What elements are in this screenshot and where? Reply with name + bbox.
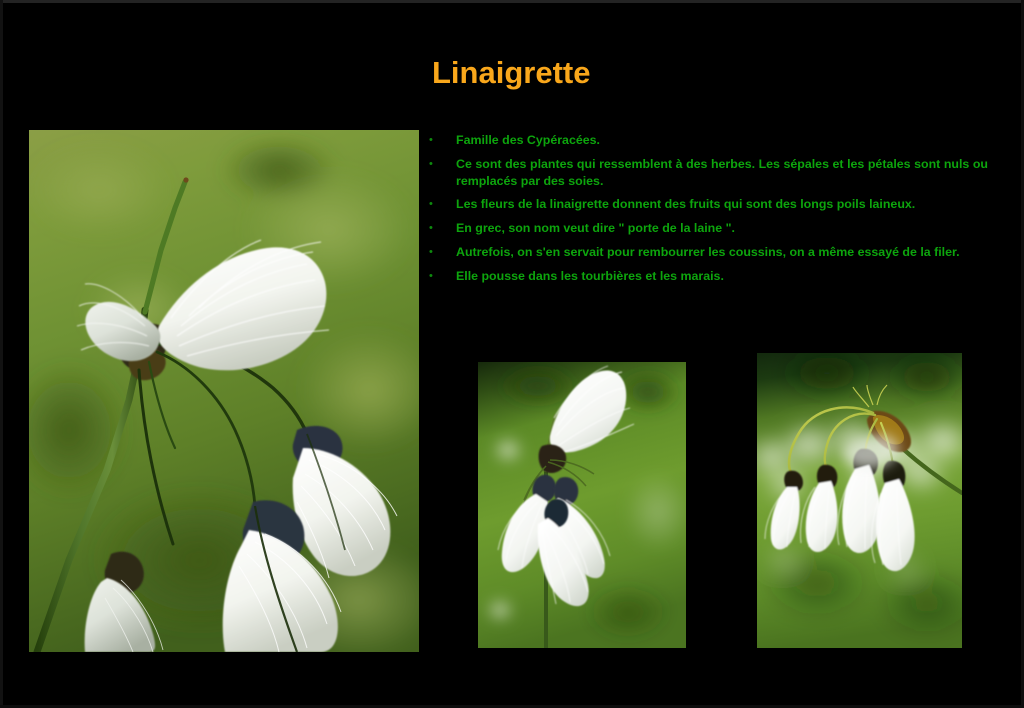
list-item-label: Ce sont des plantes qui ressemblent à de… (456, 156, 988, 189)
slide-frame-top (0, 0, 1024, 3)
bullet-dot-icon: • (424, 244, 456, 261)
list-item-label: Autrefois, on s'en servait pour rembourr… (456, 244, 988, 261)
list-item-label: Elle pousse dans les tourbières et les m… (456, 268, 988, 285)
cottongrass-single-stem-photo (478, 362, 686, 648)
slide-canvas: Linaigrette • Famille des Cypéracées. • … (0, 0, 1024, 708)
cottongrass-drooping-spikelets-photo (757, 353, 962, 648)
bullet-dot-icon: • (424, 268, 456, 285)
list-item-label: Les fleurs de la linaigrette donnent des… (456, 196, 988, 213)
list-item: • Ce sont des plantes qui ressemblent à … (424, 156, 988, 189)
page-title: Linaigrette (432, 54, 590, 92)
list-item: • Les fleurs de la linaigrette donnent d… (424, 196, 988, 213)
bullet-dot-icon: • (424, 196, 456, 213)
cottongrass-closeup-main-photo (29, 130, 419, 652)
bullet-list: • Famille des Cypéracées. • Ce sont des … (424, 132, 988, 292)
list-item: • En grec, son nom veut dire " porte de … (424, 220, 988, 237)
list-item-label: En grec, son nom veut dire " porte de la… (456, 220, 988, 237)
list-item: • Elle pousse dans les tourbières et les… (424, 268, 988, 285)
list-item: • Famille des Cypéracées. (424, 132, 988, 149)
list-item-label: Famille des Cypéracées. (456, 132, 988, 149)
slide-frame-left (0, 0, 3, 708)
bullet-dot-icon: • (424, 220, 456, 237)
bullet-dot-icon: • (424, 156, 456, 173)
list-item: • Autrefois, on s'en servait pour rembou… (424, 244, 988, 261)
bullet-dot-icon: • (424, 132, 456, 149)
